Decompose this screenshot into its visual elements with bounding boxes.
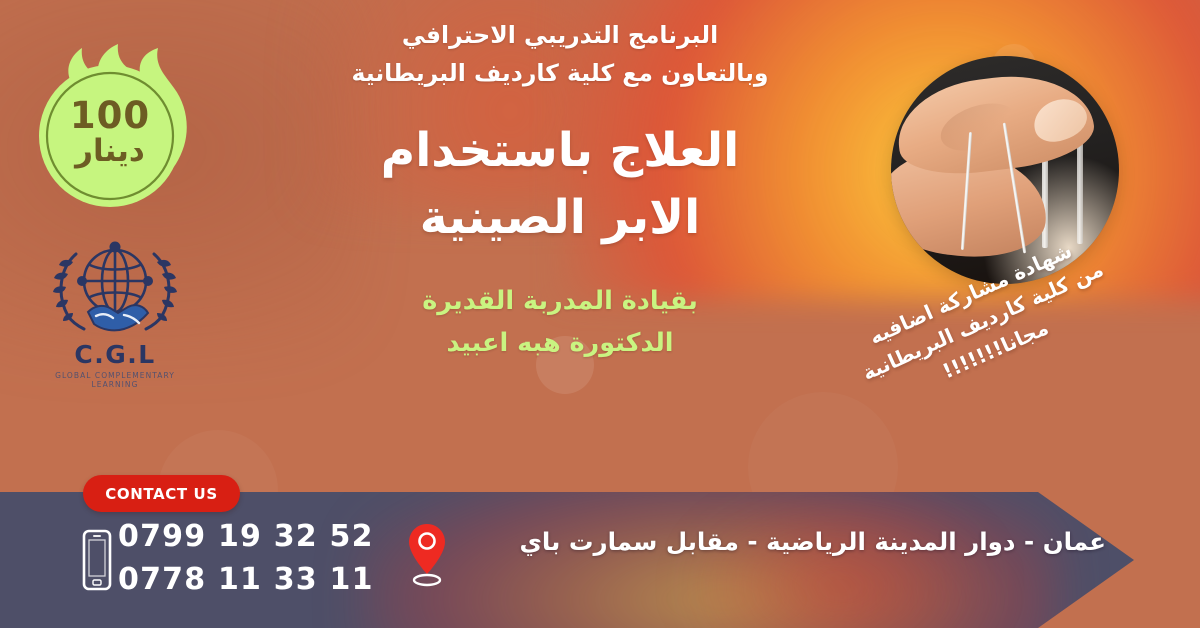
price-badge: 100 دينار [34, 44, 202, 214]
globe-handshake-laurel-icon [40, 236, 190, 340]
subheadline: بقيادة المدربة القديرة الدكتورة هبه اعبي… [250, 280, 870, 366]
price-currency: دينار [75, 135, 145, 168]
location-pin-icon [406, 522, 448, 588]
subhead-line-1: بقيادة المدربة القديرة [250, 280, 870, 323]
phone-icon [80, 527, 114, 593]
logo-abbreviation: C.G.L [30, 342, 200, 367]
kicker-text: البرنامج التدريبي الاحترافي وبالتعاون مع… [250, 16, 870, 92]
smartphone-icon [80, 527, 114, 593]
address-text: عمان - دوار المدينة الرياضية - مقابل سما… [456, 526, 1106, 558]
main-headline: العلاج باستخدام الابر الصينية [250, 118, 870, 251]
price-amount: 100 [70, 96, 150, 135]
kicker-line-1: البرنامج التدريبي الاحترافي [402, 21, 718, 49]
promo-banner: 100 دينار [0, 0, 1200, 628]
kicker-line-2: وبالتعاون مع كلية كارديف البريطانية [351, 59, 768, 87]
price-badge-text: 100 دينار [51, 82, 169, 182]
phone-number-2[interactable]: 0778 11 33 11 [118, 559, 386, 602]
headline-line-2: الابر الصينية [250, 185, 870, 252]
phone-number-1[interactable]: 0799 19 32 52 [118, 516, 386, 559]
map-pin-icon [406, 522, 448, 588]
contact-bar-glow-secondary [690, 496, 990, 628]
subhead-line-2: الدكتورة هبه اعبيد [250, 322, 870, 365]
logo-full-name: GLOBAL COMPLEMENTARY LEARNING [30, 371, 200, 389]
headline-line-1: العلاج باستخدام [250, 118, 870, 185]
phone-numbers: 0799 19 32 52 0778 11 33 11 [118, 516, 386, 601]
contact-us-badge[interactable]: CONTACT US [83, 475, 240, 512]
headline-block: البرنامج التدريبي الاحترافي وبالتعاون مع… [250, 16, 870, 365]
cgl-logo: C.G.L GLOBAL COMPLEMENTARY LEARNING [30, 236, 200, 392]
